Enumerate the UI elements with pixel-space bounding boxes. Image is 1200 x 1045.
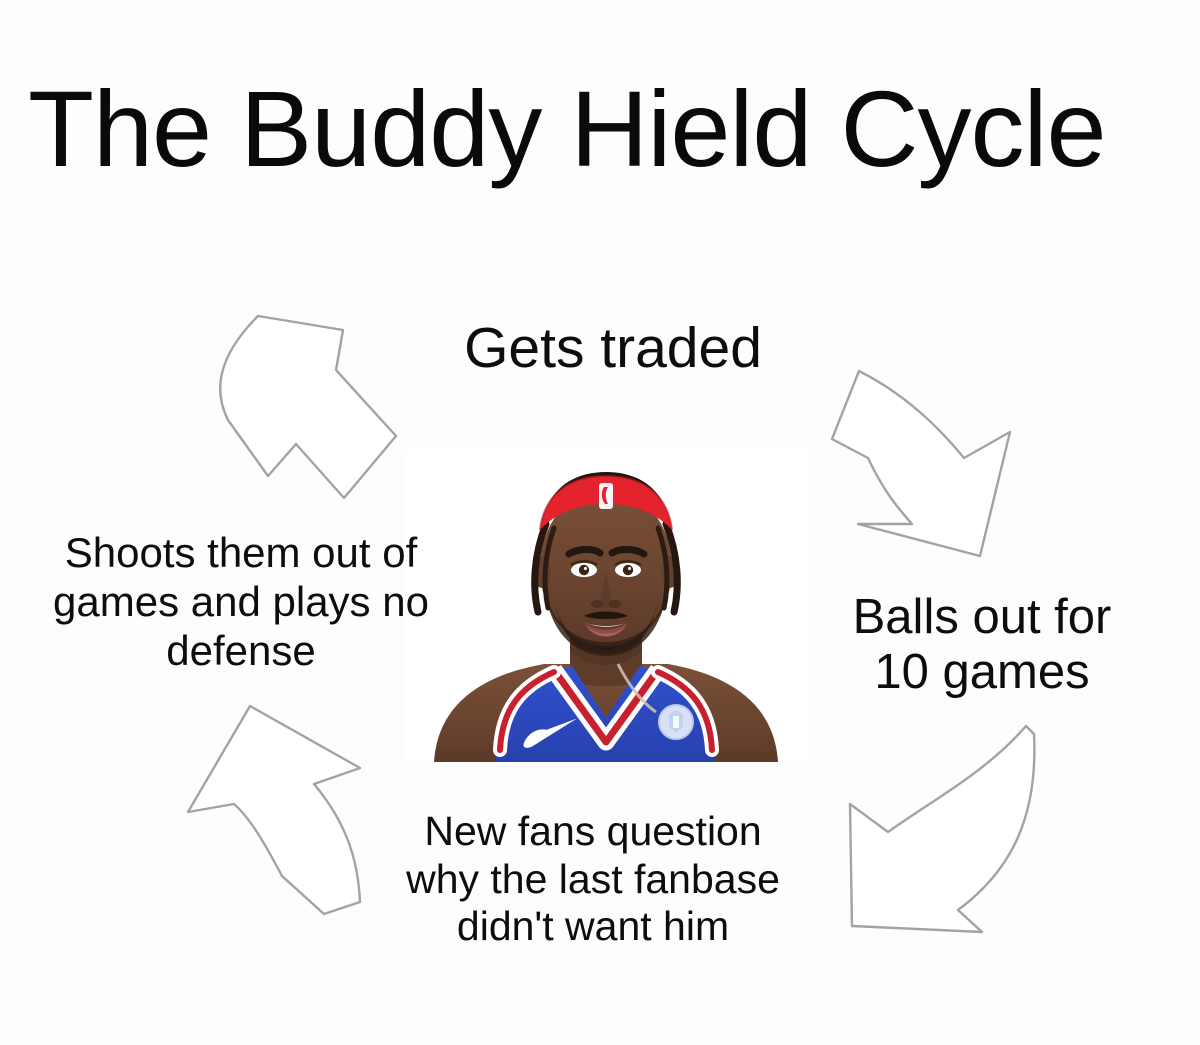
cycle-label-new-fans-question: New fans question why the last fanbase d… — [348, 808, 838, 951]
nba-logo-icon — [599, 483, 613, 509]
curved-arrow-down-left-icon — [812, 720, 1074, 944]
meme-canvas: The Buddy Hield Cycle — [0, 0, 1200, 1045]
cycle-label-shoots-them-out: Shoots them out of games and plays no de… — [0, 528, 486, 675]
cycle-label-balls-out: Balls out for 10 games — [796, 590, 1168, 700]
team-patch-icon — [659, 705, 693, 739]
curved-arrow-down-right-icon — [806, 352, 1068, 584]
cycle-label-gets-traded: Gets traded — [378, 318, 848, 378]
page-title: The Buddy Hield Cycle — [28, 72, 1188, 186]
